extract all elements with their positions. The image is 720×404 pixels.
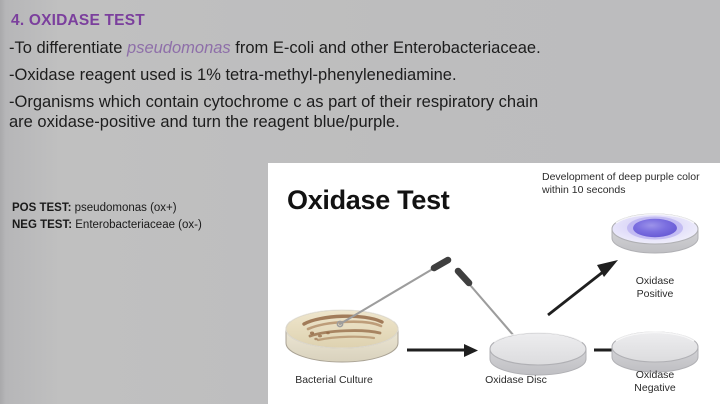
label-oxidase-disc: Oxidase Disc bbox=[461, 374, 571, 387]
label-bacterial-culture: Bacterial Culture bbox=[274, 374, 394, 387]
legend-pos-value: pseudomonas (ox+) bbox=[71, 202, 176, 214]
bullet-3-text: -Organisms which contain cytochrome c as… bbox=[9, 93, 538, 131]
bullet-1-post: from E-coli and other Enterobacteriaceae… bbox=[231, 39, 541, 57]
bullet-item-2: -Oxidase reagent used is 1% tetra-methyl… bbox=[9, 65, 709, 86]
oxidase-positive-disc-icon bbox=[612, 214, 698, 253]
page-title: 4. OXIDASE TEST bbox=[11, 12, 145, 30]
diagram-panel: Oxidase Test Development of deep purple … bbox=[268, 163, 720, 404]
bullet-1-pre: -To differentiate bbox=[9, 39, 127, 57]
label-oxidase-negative: Oxidase Negative bbox=[610, 369, 700, 394]
test-result-legend: POS TEST: pseudomonas (ox+) NEG TEST: En… bbox=[12, 200, 202, 234]
legend-row-positive: POS TEST: pseudomonas (ox+) bbox=[12, 200, 202, 217]
bullet-list: -To differentiate pseudomonas from E-col… bbox=[9, 38, 709, 138]
slide-canvas: 4. OXIDASE TEST -To differentiate pseudo… bbox=[0, 0, 720, 404]
bullet-2-text: -Oxidase reagent used is 1% tetra-methyl… bbox=[9, 66, 457, 84]
label-oxidase-positive: Oxidase Positive bbox=[610, 275, 700, 300]
legend-neg-value: Enterobacteriaceae (ox-) bbox=[72, 219, 202, 231]
oxidase-disc-icon bbox=[490, 332, 586, 375]
legend-neg-label: NEG TEST: bbox=[12, 219, 72, 231]
legend-pos-label: POS TEST: bbox=[12, 202, 71, 214]
bacterial-culture-dish-icon bbox=[286, 309, 398, 362]
bullet-1-italic-term: pseudomonas bbox=[127, 39, 231, 57]
bullet-item-3: -Organisms which contain cytochrome c as… bbox=[9, 92, 709, 132]
arrow-disc-to-positive-icon bbox=[548, 260, 618, 315]
oxidase-negative-disc-icon bbox=[612, 332, 698, 372]
inoculation-loop-icon-1 bbox=[337, 260, 448, 327]
arrow-culture-to-disc-icon bbox=[407, 344, 478, 357]
legend-row-negative: NEG TEST: Enterobacteriaceae (ox-) bbox=[12, 217, 202, 234]
bullet-item-1: -To differentiate pseudomonas from E-col… bbox=[9, 38, 709, 59]
